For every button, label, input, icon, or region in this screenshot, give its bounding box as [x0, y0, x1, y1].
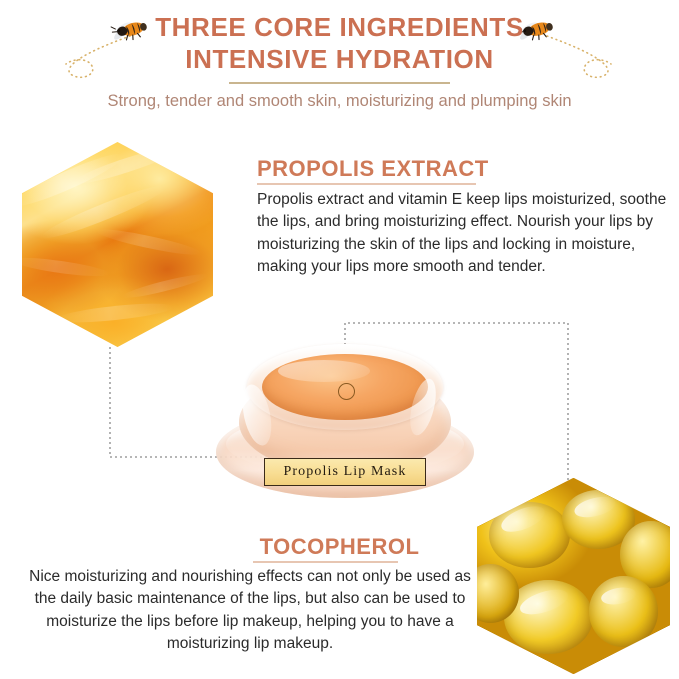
page-subtitle: Strong, tender and smooth skin, moisturi…: [0, 92, 679, 111]
page-title-line-1: THREE CORE INGREDIENTS: [0, 12, 679, 43]
callout-marker: [338, 383, 355, 400]
page-title-line-2: INTENSIVE HYDRATION: [0, 44, 679, 75]
vitamin-e-capsules-hexagon-image: [477, 478, 670, 674]
jar-label: Propolis Lip Mask: [264, 458, 426, 486]
section-heading-propolis: PROPOLIS EXTRACT: [257, 156, 489, 182]
honeycomb-propolis-hexagon-image: [22, 142, 213, 347]
header: THREE CORE INGREDIENTS INTENSIVE HYDRATI…: [0, 0, 679, 128]
jar-balm-gloss: [278, 360, 370, 382]
propolis-lip-mask-jar-image: Propolis Lip Mask: [216, 344, 474, 502]
product-infographic: THREE CORE INGREDIENTS INTENSIVE HYDRATI…: [0, 0, 679, 679]
section-heading-tocopherol: TOCOPHEROL: [0, 534, 679, 560]
section-body-propolis: Propolis extract and vitamin E keep lips…: [257, 189, 667, 278]
jar-label-text: Propolis Lip Mask: [284, 464, 407, 480]
section-heading-rule-propolis: [257, 183, 476, 185]
header-divider: [229, 82, 450, 84]
section-heading-rule-tocopherol: [253, 561, 398, 563]
section-body-tocopherol: Nice moisturizing and nourishing effects…: [20, 566, 480, 655]
